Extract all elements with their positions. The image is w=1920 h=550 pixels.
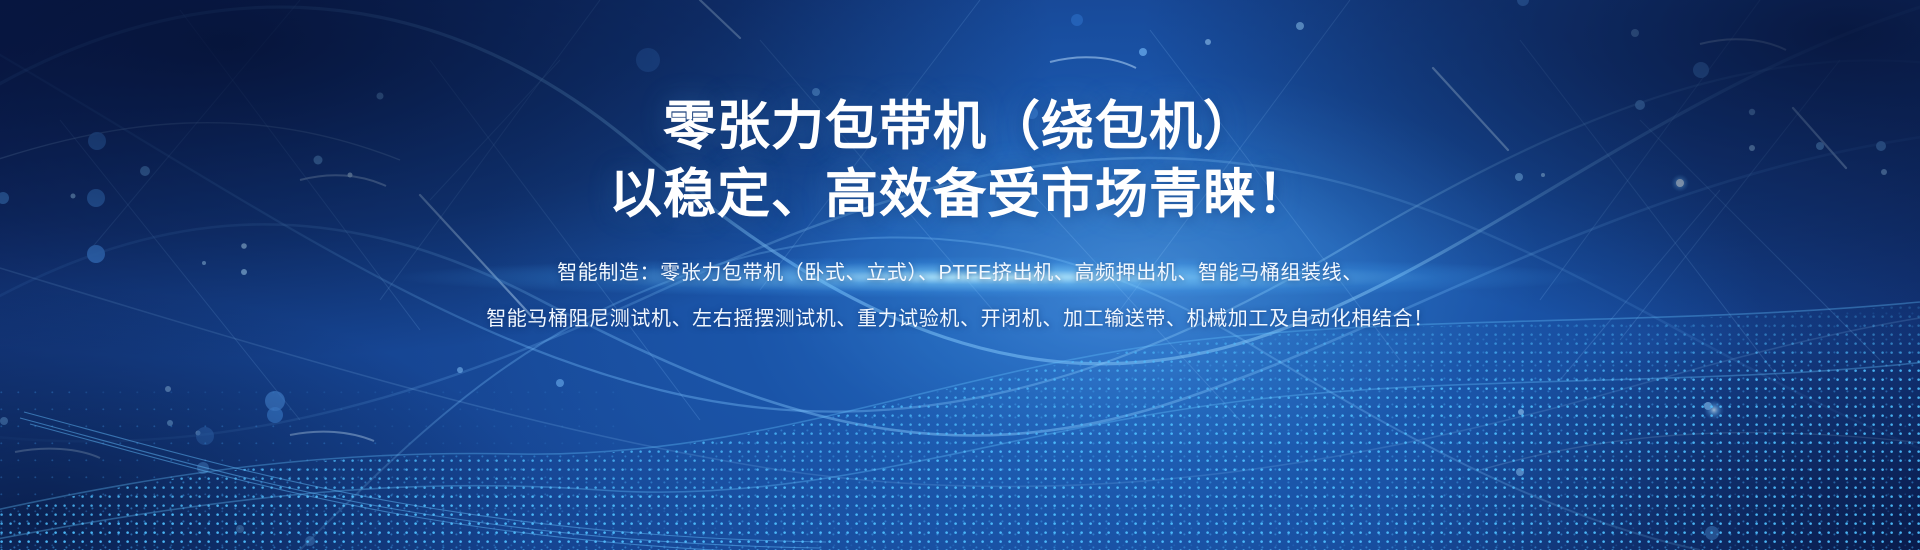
- subtitle-line-1: 智能制造：零张力包带机（卧式、立式）、PTFE挤出机、高频押出机、智能马桶组装线…: [557, 260, 1363, 286]
- headline-line-1: 零张力包带机（绕包机）: [663, 96, 1257, 158]
- subtitle-line-2: 智能马桶阻尼测试机、左右摇摆测试机、重力试验机、开闭机、加工输送带、机械加工及自…: [486, 306, 1434, 332]
- headline-line-2: 以稳定、高效备受市场青睐！: [609, 164, 1311, 226]
- banner-content: 零张力包带机（绕包机） 以稳定、高效备受市场青睐！ 智能制造：零张力包带机（卧式…: [0, 0, 1920, 550]
- promo-banner: 零张力包带机（绕包机） 以稳定、高效备受市场青睐！ 智能制造：零张力包带机（卧式…: [0, 0, 1920, 550]
